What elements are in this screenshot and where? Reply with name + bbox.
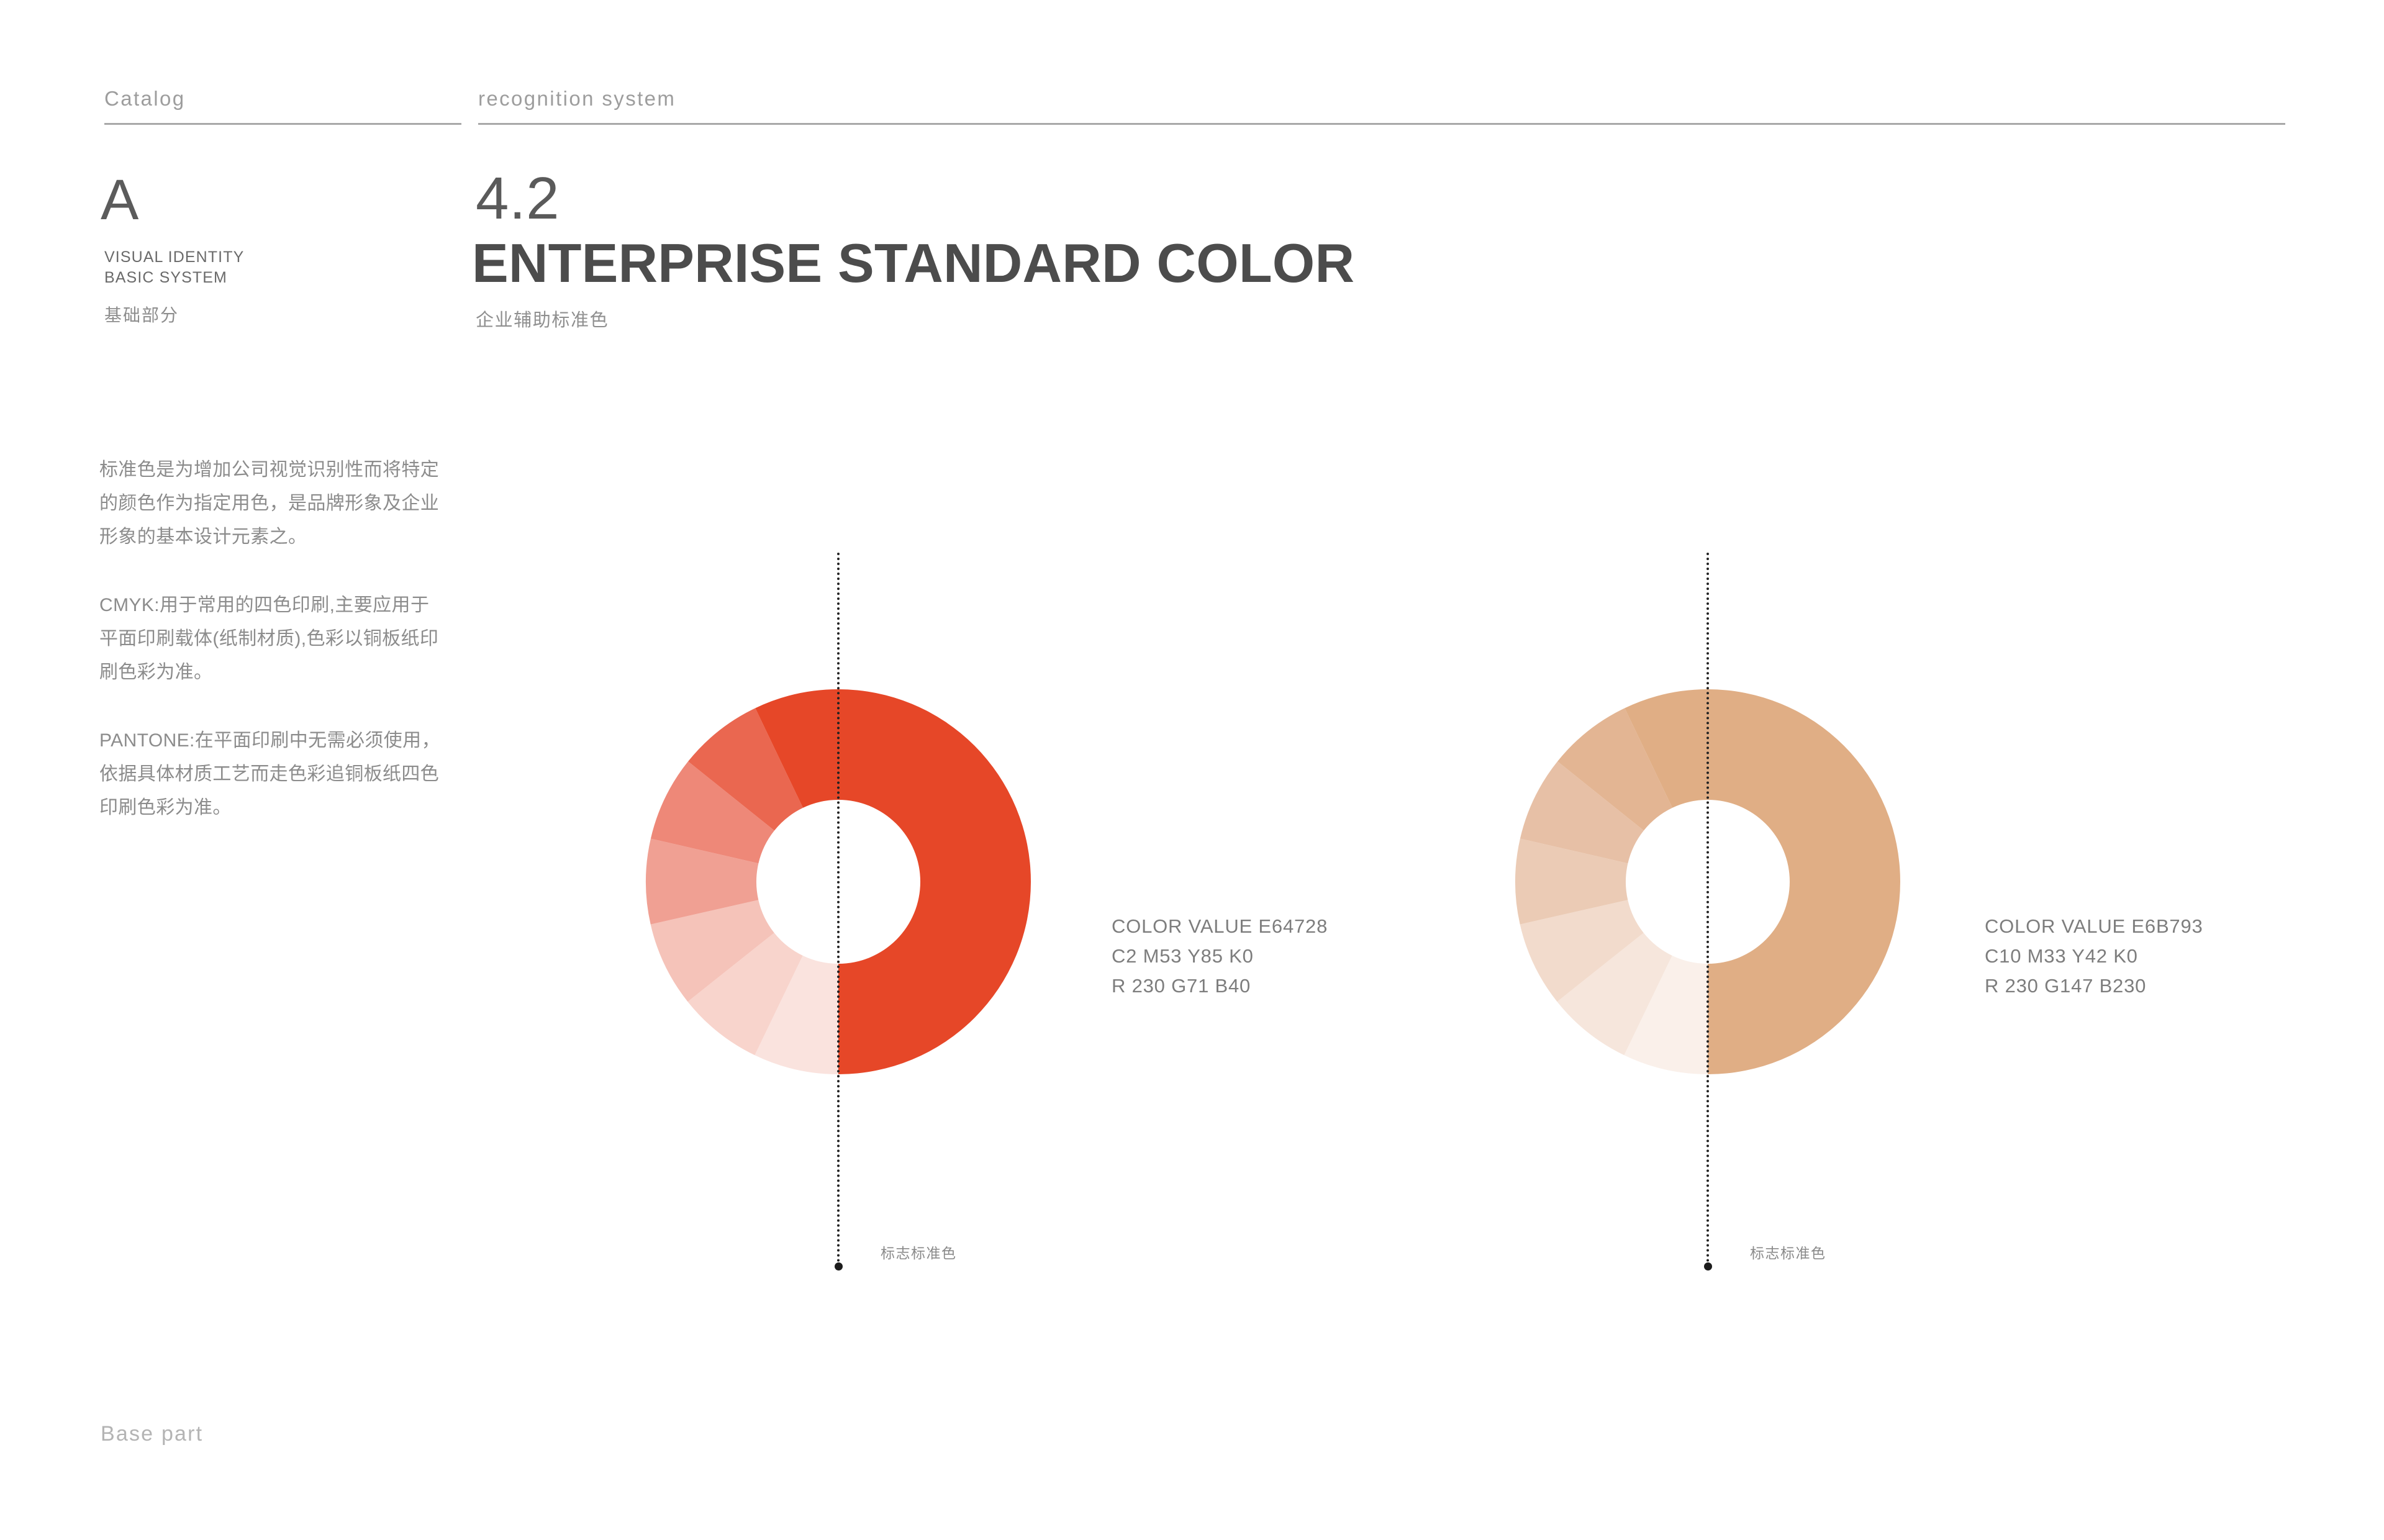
donut-caption: 标志标准色 <box>1750 1241 1826 1262</box>
center-axis-dotted-line <box>837 553 840 1262</box>
secondary-standard-color-donut <box>0 0 2384 1540</box>
color-value-block: COLOR VALUE E6B793C10 M33 Y42 K0R 230 G1… <box>1985 912 2203 1001</box>
axis-end-dot <box>1704 1262 1712 1270</box>
color-value-line-2: C10 M33 Y42 K0 <box>1985 941 2203 971</box>
color-value-line-3: R 230 G147 B230 <box>1985 971 2203 1001</box>
donut-slice <box>1708 689 1900 1074</box>
axis-end-dot <box>835 1262 843 1270</box>
color-value-line-1: COLOR VALUE E6B793 <box>1985 912 2203 941</box>
center-axis-dotted-line <box>1706 553 1709 1262</box>
